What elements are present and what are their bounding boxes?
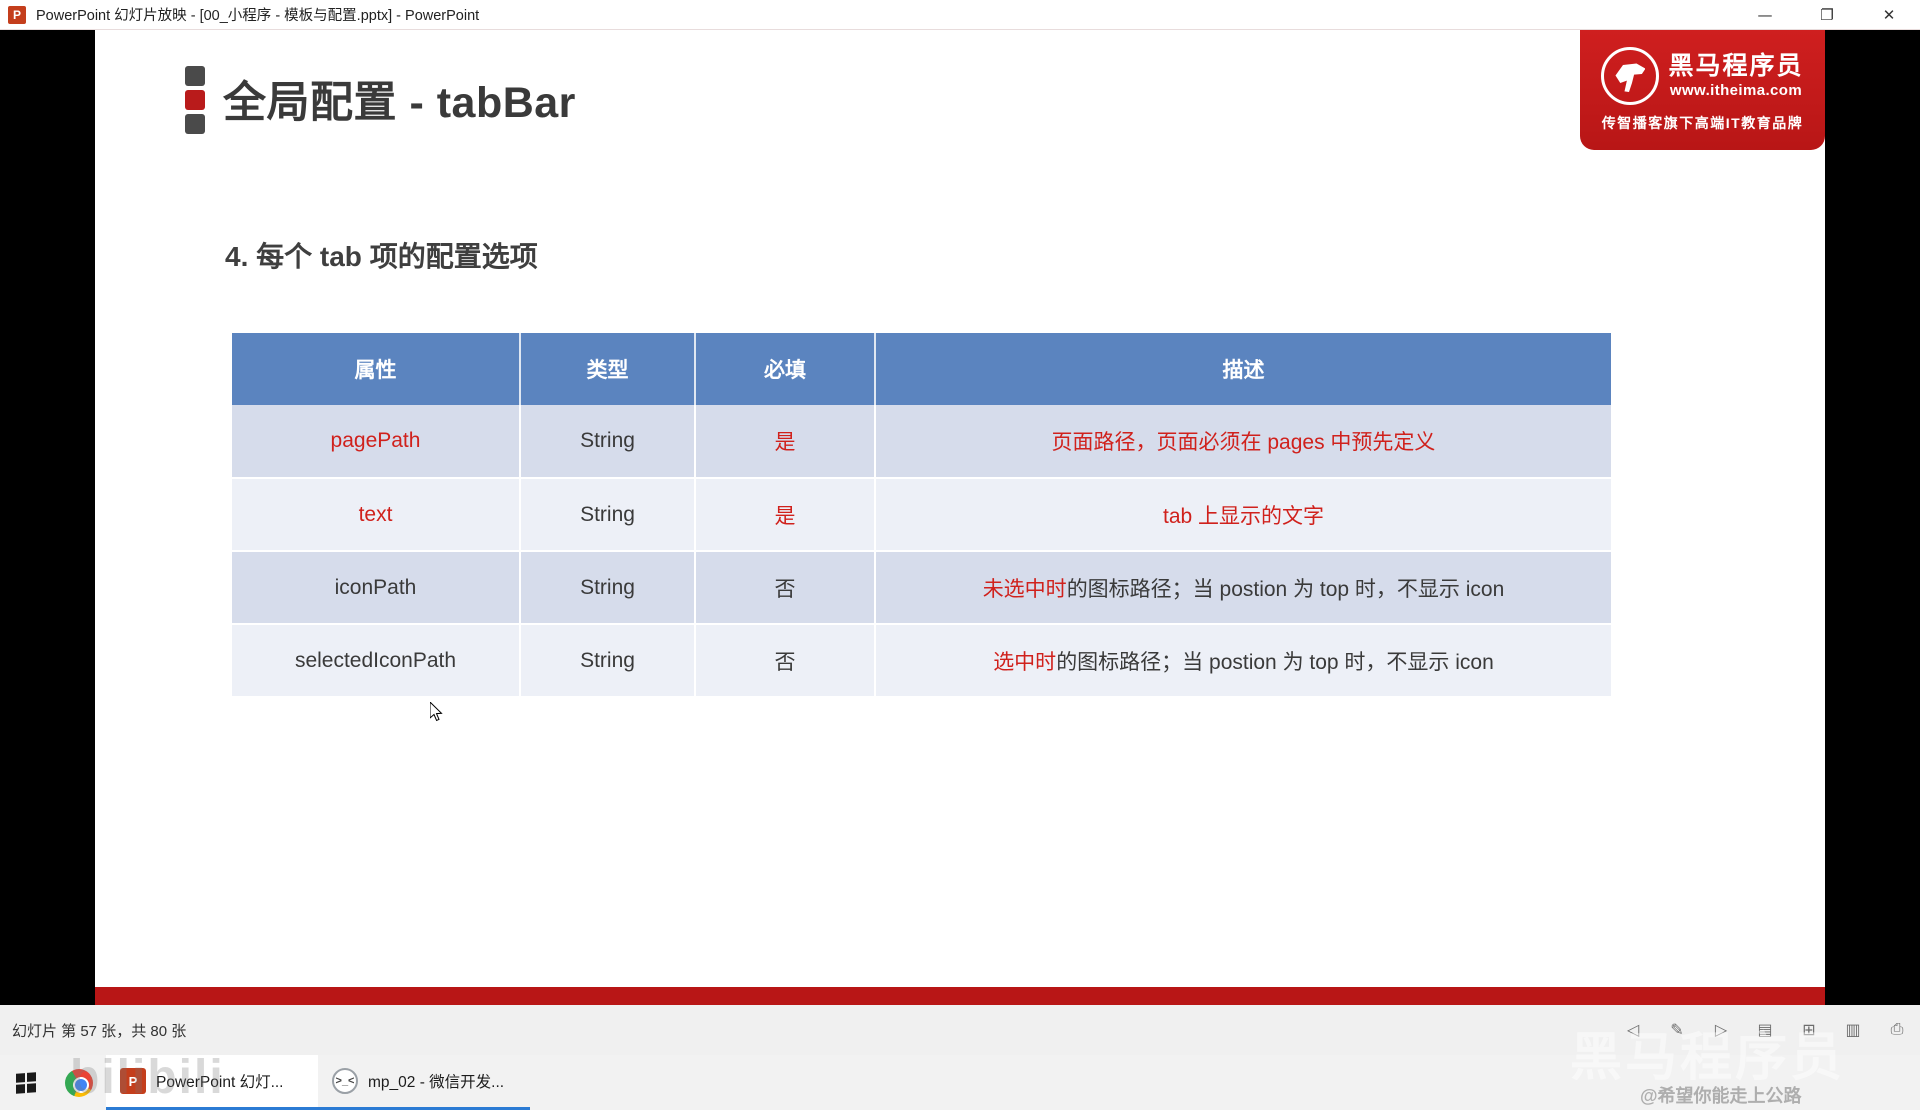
table-row: iconPathString否未选中时的图标路径；当 postion 为 top… xyxy=(232,551,1611,624)
cell-property: pagePath xyxy=(232,405,520,478)
slide-footer-bar xyxy=(95,987,1825,1005)
more-options-icon[interactable]: ▥ xyxy=(1840,1017,1866,1043)
table-header-row: 属性 类型 必填 描述 xyxy=(232,333,1611,405)
cell-property: selectedIconPath xyxy=(232,624,520,697)
table-body: pagePathString是页面路径，页面必须在 pages 中预先定义tex… xyxy=(232,405,1611,697)
cell-type: String xyxy=(520,405,695,478)
powerpoint-icon: P xyxy=(8,6,26,24)
cell-description: 选中时的图标路径；当 postion 为 top 时，不显示 icon xyxy=(875,624,1611,697)
pen-annotation-icon[interactable]: ✎ xyxy=(1664,1017,1690,1043)
column-header-type: 类型 xyxy=(520,333,695,405)
previous-slide-icon[interactable]: ◁ xyxy=(1620,1017,1646,1043)
minimize-button[interactable]: — xyxy=(1734,0,1796,30)
slide-subtitle: 4. 每个 tab 项的配置选项 xyxy=(225,235,538,275)
taskbar-window-powerpoint[interactable]: P PowerPoint 幻灯... xyxy=(106,1055,318,1110)
window-titlebar: P PowerPoint 幻灯片放映 - [00_小程序 - 模板与配置.ppt… xyxy=(0,0,1920,30)
next-slide-icon[interactable]: ▷ xyxy=(1708,1017,1734,1043)
bullet-square-bottom xyxy=(185,114,205,134)
title-bullet-decoration xyxy=(185,66,205,138)
cell-description: 未选中时的图标路径；当 postion 为 top 时，不显示 icon xyxy=(875,551,1611,624)
cell-type: String xyxy=(520,624,695,697)
close-button[interactable]: ✕ xyxy=(1858,0,1920,30)
logo-brand-name: 黑马程序员 xyxy=(1668,53,1803,79)
cell-description: 页面路径，页面必须在 pages 中预先定义 xyxy=(875,405,1611,478)
cell-required: 否 xyxy=(695,624,875,697)
presenter-view-icon[interactable]: ⎙ xyxy=(1884,1017,1910,1043)
cell-property: iconPath xyxy=(232,551,520,624)
slide-canvas[interactable]: 全局配置 - tabBar 黑马程序员 www.itheima.com 传智播客… xyxy=(95,30,1825,1005)
taskbar-window-powerpoint-label: PowerPoint 幻灯... xyxy=(156,1070,284,1092)
logo-text-block: 黑马程序员 www.itheima.com xyxy=(1668,53,1803,98)
config-table: 属性 类型 必填 描述 pagePathString是页面路径，页面必须在 pa… xyxy=(232,333,1611,698)
slide-thumbnails-icon[interactable]: ▤ xyxy=(1752,1017,1778,1043)
chrome-icon xyxy=(65,1069,93,1097)
window-title: PowerPoint 幻灯片放映 - [00_小程序 - 模板与配置.pptx]… xyxy=(36,4,479,25)
cell-required: 否 xyxy=(695,551,875,624)
windows-logo-icon xyxy=(16,1072,36,1093)
cell-description: tab 上显示的文字 xyxy=(875,478,1611,551)
cell-property: text xyxy=(232,478,520,551)
slide-counter-text: 幻灯片 第 57 张，共 80 张 xyxy=(12,1020,186,1041)
logo-row: 黑马程序员 www.itheima.com xyxy=(1580,30,1825,105)
window-controls: — ❐ ✕ xyxy=(1734,0,1920,30)
slide-title: 全局配置 - tabBar xyxy=(223,68,576,130)
column-header-description: 描述 xyxy=(875,333,1611,405)
start-button[interactable] xyxy=(0,1055,52,1110)
table-row: selectedIconPathString否选中时的图标路径；当 postio… xyxy=(232,624,1611,697)
zoom-slide-icon[interactable]: ⊞ xyxy=(1796,1017,1822,1043)
taskbar-window-wechat-devtools-label: mp_02 - 微信开发... xyxy=(368,1070,504,1092)
slideshow-tools: ◁✎▷▤⊞▥⎙ xyxy=(1620,1017,1910,1043)
desktop-background: 全局配置 - tabBar 黑马程序员 www.itheima.com 传智播客… xyxy=(0,30,1920,1080)
logo-tagline: 传智播客旗下高端IT教育品牌 xyxy=(1580,113,1825,133)
powerpoint-icon: P xyxy=(120,1068,146,1094)
cell-required: 是 xyxy=(695,478,875,551)
column-header-required: 必填 xyxy=(695,333,875,405)
bullet-square-middle xyxy=(185,90,205,110)
table-row: pagePathString是页面路径，页面必须在 pages 中预先定义 xyxy=(232,405,1611,478)
bullet-square-top xyxy=(185,66,205,86)
restore-button[interactable]: ❐ xyxy=(1796,0,1858,30)
column-header-property: 属性 xyxy=(232,333,520,405)
table-head: 属性 类型 必填 描述 xyxy=(232,333,1611,405)
slideshow-status-bar: 幻灯片 第 57 张，共 80 张 ◁✎▷▤⊞▥⎙ xyxy=(0,1005,1920,1055)
mouse-cursor xyxy=(430,702,444,722)
tabbar-options-table: 属性 类型 必填 描述 pagePathString是页面路径，页面必须在 pa… xyxy=(232,333,1611,698)
cell-required: 是 xyxy=(695,405,875,478)
horse-head-icon xyxy=(1601,47,1659,105)
table-row: textString是tab 上显示的文字 xyxy=(232,478,1611,551)
windows-taskbar: P PowerPoint 幻灯... >_< mp_02 - 微信开发... xyxy=(0,1055,1920,1110)
cell-type: String xyxy=(520,551,695,624)
wechat-devtools-icon: >_< xyxy=(332,1068,358,1094)
taskbar-window-wechat-devtools[interactable]: >_< mp_02 - 微信开发... xyxy=(318,1055,530,1110)
itheima-logo: 黑马程序员 www.itheima.com 传智播客旗下高端IT教育品牌 xyxy=(1580,30,1825,150)
logo-website: www.itheima.com xyxy=(1668,82,1803,99)
cell-type: String xyxy=(520,478,695,551)
taskbar-item-chrome[interactable] xyxy=(52,1055,106,1110)
